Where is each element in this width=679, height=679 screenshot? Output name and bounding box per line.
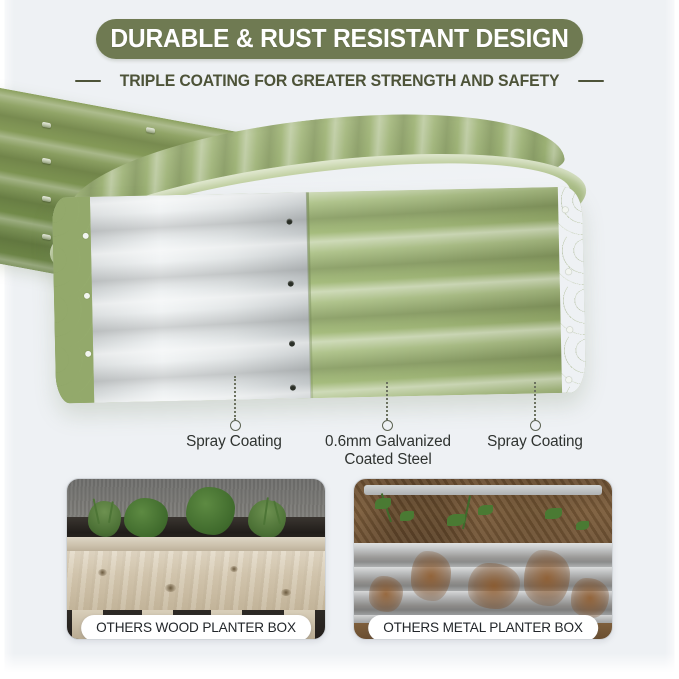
callout-label-spray-coating-left: Spray Coating bbox=[154, 433, 314, 451]
callout-group: Spray Coating 0.6mm Galvanized Coated St… bbox=[0, 0, 679, 679]
callout-leader-line bbox=[234, 376, 238, 420]
callout-leader-line bbox=[386, 382, 390, 420]
callout-label-galvanized-steel: 0.6mm Galvanized Coated Steel bbox=[303, 433, 473, 468]
callout-label-spray-coating-right: Spray Coating bbox=[455, 433, 615, 451]
callout-dot-icon bbox=[230, 420, 241, 431]
infographic-page: DURABLE & RUST RESISTANT DESIGN TRIPLE C… bbox=[0, 0, 679, 679]
callout-dot-icon bbox=[530, 420, 541, 431]
callout-dot-icon bbox=[382, 420, 393, 431]
callout-leader-line bbox=[534, 382, 538, 420]
